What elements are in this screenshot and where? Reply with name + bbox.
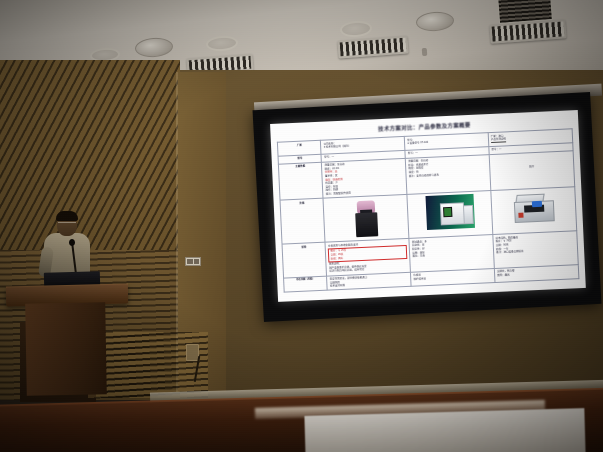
table-cell: 技术成熟，精度最高 报价：￥ 78万 交期：90天 质保：一年 备注：进口设备交…: [493, 231, 578, 268]
smoke-detector-icon: [422, 48, 428, 56]
table-cell: 测量范围：全自动 样品：多通道并行 精度：高精度 速度：快 备注：支持自动进样与…: [405, 154, 490, 194]
table-cell: 测试通道：多 自动化：高 稳定性：好 品牌：国际 服务：完善: [409, 235, 494, 272]
product-photo-2: [425, 194, 474, 230]
light-switch-plate[interactable]: [185, 257, 201, 266]
product-image-cell: [491, 187, 577, 235]
presentation-photo: 技术方案对比：产品参数及方案概要 厂家 公司名称： ● 技术有限公司（国内） 型…: [0, 0, 603, 452]
projection-screen: 技术方案对比：产品参数及方案概要 厂家 公司名称： ● 技术有限公司（国内） 型…: [253, 92, 602, 322]
table-cell: 简介: [489, 150, 574, 190]
presenter-hair: [56, 211, 78, 221]
product-image-cell: [407, 191, 493, 239]
presentation-slide: 技术方案对比：产品参数及方案概要 厂家 公司名称： ● 技术有限公司（国内） 型…: [270, 110, 586, 302]
podium: [25, 302, 107, 395]
product-image-cell: [323, 195, 409, 243]
table-cell: 交期长，售后慢 费用：最高: [494, 264, 578, 283]
microphone-icon: [69, 239, 75, 246]
table-cell: 测量范围：全自动 精度：±0.1% 分辨率：高 重复性：优 速度：快速检测 样品…: [322, 158, 407, 198]
product-photo-3: [510, 190, 557, 224]
table-cell: 价格优势与本地化服务支持 报价：￥ 25万 交期：45天 质保：两年 优势说明：…: [325, 238, 410, 275]
product-photo-1: [348, 198, 384, 238]
row-label: 主要性能: [279, 162, 324, 201]
row-label: 优势: [282, 242, 327, 277]
row-label: 外观: [280, 198, 325, 244]
foreground-white-panel: [304, 408, 585, 452]
row-label: 存在问题（风险）: [284, 276, 328, 293]
glasses-icon: [58, 222, 76, 227]
table-cell: 价格高 维护成本高: [411, 268, 495, 287]
table-cell: 稳定性需验证，部分模块依赖进口 交期风险 技术支持有限: [327, 272, 411, 291]
comparison-table: 厂家 公司名称： ● 技术有限公司（国内） 型号： ● 设备型号 XT-100 …: [277, 128, 579, 293]
